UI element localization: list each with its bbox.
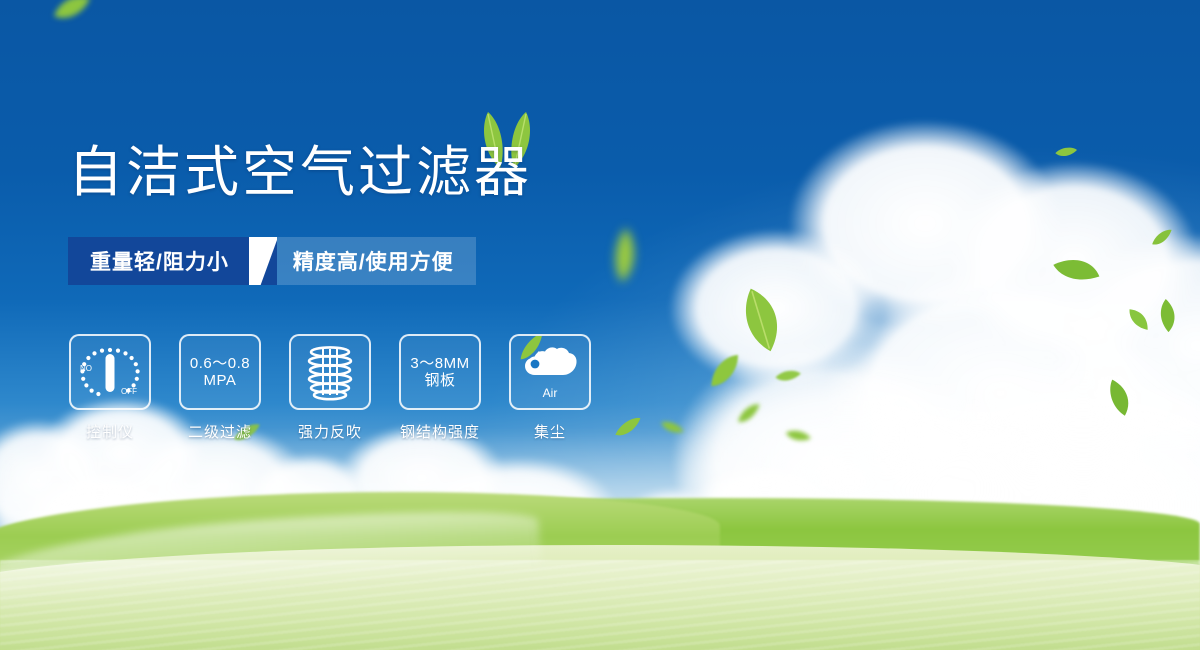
leaf-icon: [52, 0, 92, 22]
control-dial-box: NO OFF: [69, 334, 151, 410]
air-cloud-box: Air: [509, 334, 591, 410]
pressure-text-box: 0.6～0.8 MPA: [179, 334, 261, 410]
feature-item-steel[interactable]: 3～8MM 钢板 钢结构强度: [398, 334, 482, 442]
air-cloud-icon: [521, 345, 579, 387]
feature-item-dust[interactable]: Air 集尘: [508, 334, 592, 442]
feature-item-control[interactable]: NO OFF 控制仪: [68, 334, 152, 442]
feature-label: 集尘: [534, 421, 566, 442]
filter-cartridge-box: [289, 334, 371, 410]
feature-label: 控制仪: [86, 421, 134, 442]
feature-item-blowback[interactable]: 强力反吹: [288, 334, 372, 442]
subtitle-left: 重量轻/阻力小: [68, 237, 249, 285]
hero-banner: 自洁式空气过滤器 重量轻/阻力小 精度高/使用方便: [0, 0, 1200, 650]
feature-label: 钢结构强度: [400, 421, 480, 442]
subtitle-bar: 重量轻/阻力小 精度高/使用方便: [68, 237, 476, 285]
dial-no-label: NO: [80, 364, 92, 373]
leaf-icon: [610, 228, 640, 284]
page-title: 自洁式空气过滤器: [68, 145, 532, 200]
subtitle-divider-icon: [249, 237, 277, 285]
feature-label: 强力反吹: [298, 421, 362, 442]
feature-list: NO OFF 控制仪 0.6～0.8 MPA 二级过滤: [68, 334, 592, 442]
filter-cartridge-icon: [302, 343, 358, 401]
air-label: Air: [543, 386, 558, 400]
control-dial-icon: NO OFF: [77, 342, 143, 402]
dial-off-label: OFF: [121, 387, 137, 396]
steel-plate-text-box: 3～8MM 钢板: [399, 334, 481, 410]
pressure-line-1: 0.6～0.8: [190, 355, 250, 372]
feature-label: 二级过滤: [188, 421, 252, 442]
subtitle-right: 精度高/使用方便: [277, 237, 476, 285]
steel-line-2: 钢板: [424, 372, 455, 389]
pressure-line-2: MPA: [204, 372, 237, 389]
steel-line-1: 3～8MM: [410, 355, 469, 372]
feature-item-pressure[interactable]: 0.6～0.8 MPA 二级过滤: [178, 334, 262, 442]
